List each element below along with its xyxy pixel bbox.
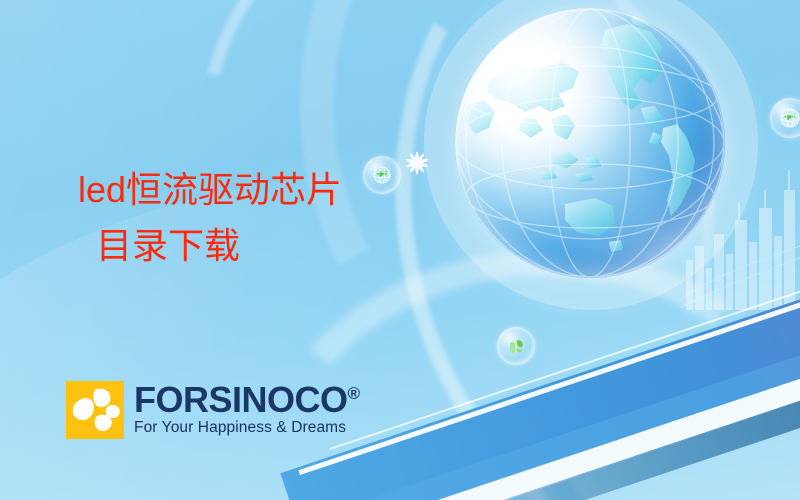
logo-wordmark-text: FORSINOCO	[134, 383, 348, 417]
globe-gridlines	[455, 8, 725, 278]
bubble-with-globe-icon	[363, 156, 401, 194]
mini-globe-icon	[372, 165, 392, 185]
background-arc-outer	[240, 0, 800, 500]
background-arc-blue	[230, 0, 800, 500]
background-arc-left	[324, 0, 800, 500]
ribbon-dark-edge-band	[278, 325, 800, 500]
headline-line-1: led恒流驱动芯片	[78, 162, 498, 218]
globe-continents	[455, 8, 725, 278]
promo-banner: led恒流驱动芯片 目录下载 FORSINOCO® For Your Happi…	[0, 0, 800, 500]
background-swirl-under-globe	[227, 221, 800, 500]
background-light-sweep-left	[0, 0, 564, 500]
ribbon-highlight-line	[329, 226, 800, 450]
petal-flower-icon	[66, 381, 124, 439]
ribbon-blue-band	[280, 238, 800, 500]
background-arc-lower-right	[429, 0, 800, 500]
green-sprout-icon	[505, 335, 527, 357]
ribbon-blue-band-2	[290, 284, 800, 500]
white-daisy-icon	[404, 150, 430, 176]
bubble-with-leaf-icon	[497, 327, 535, 365]
earth-globe-icon	[455, 8, 725, 278]
background-arc-white	[208, 0, 800, 500]
bubble-with-globe-edge-icon	[770, 98, 800, 138]
background-light-sweep-lower	[0, 112, 790, 500]
logo-tagline: For Your Happiness & Dreams	[134, 418, 360, 438]
registered-trademark-icon: ®	[348, 385, 360, 402]
logo-wordmark: FORSINOCO®	[134, 383, 360, 417]
mini-globe-edge-icon	[779, 107, 800, 129]
four-petal-flower-mark-icon	[66, 381, 124, 439]
background-arc-thin	[102, 0, 800, 500]
company-logo: FORSINOCO® For Your Happiness & Dreams	[66, 381, 360, 439]
globe-halo	[424, 0, 758, 310]
ribbon-white-stripe-2	[279, 302, 800, 500]
headline-block: led恒流驱动芯片 目录下载	[78, 162, 498, 274]
city-skyline-icon	[680, 150, 800, 310]
ribbon-white-stripe-1	[298, 235, 800, 475]
logo-text-block: FORSINOCO® For Your Happiness & Dreams	[134, 383, 360, 438]
headline-line-2: 目录下载	[78, 218, 498, 274]
